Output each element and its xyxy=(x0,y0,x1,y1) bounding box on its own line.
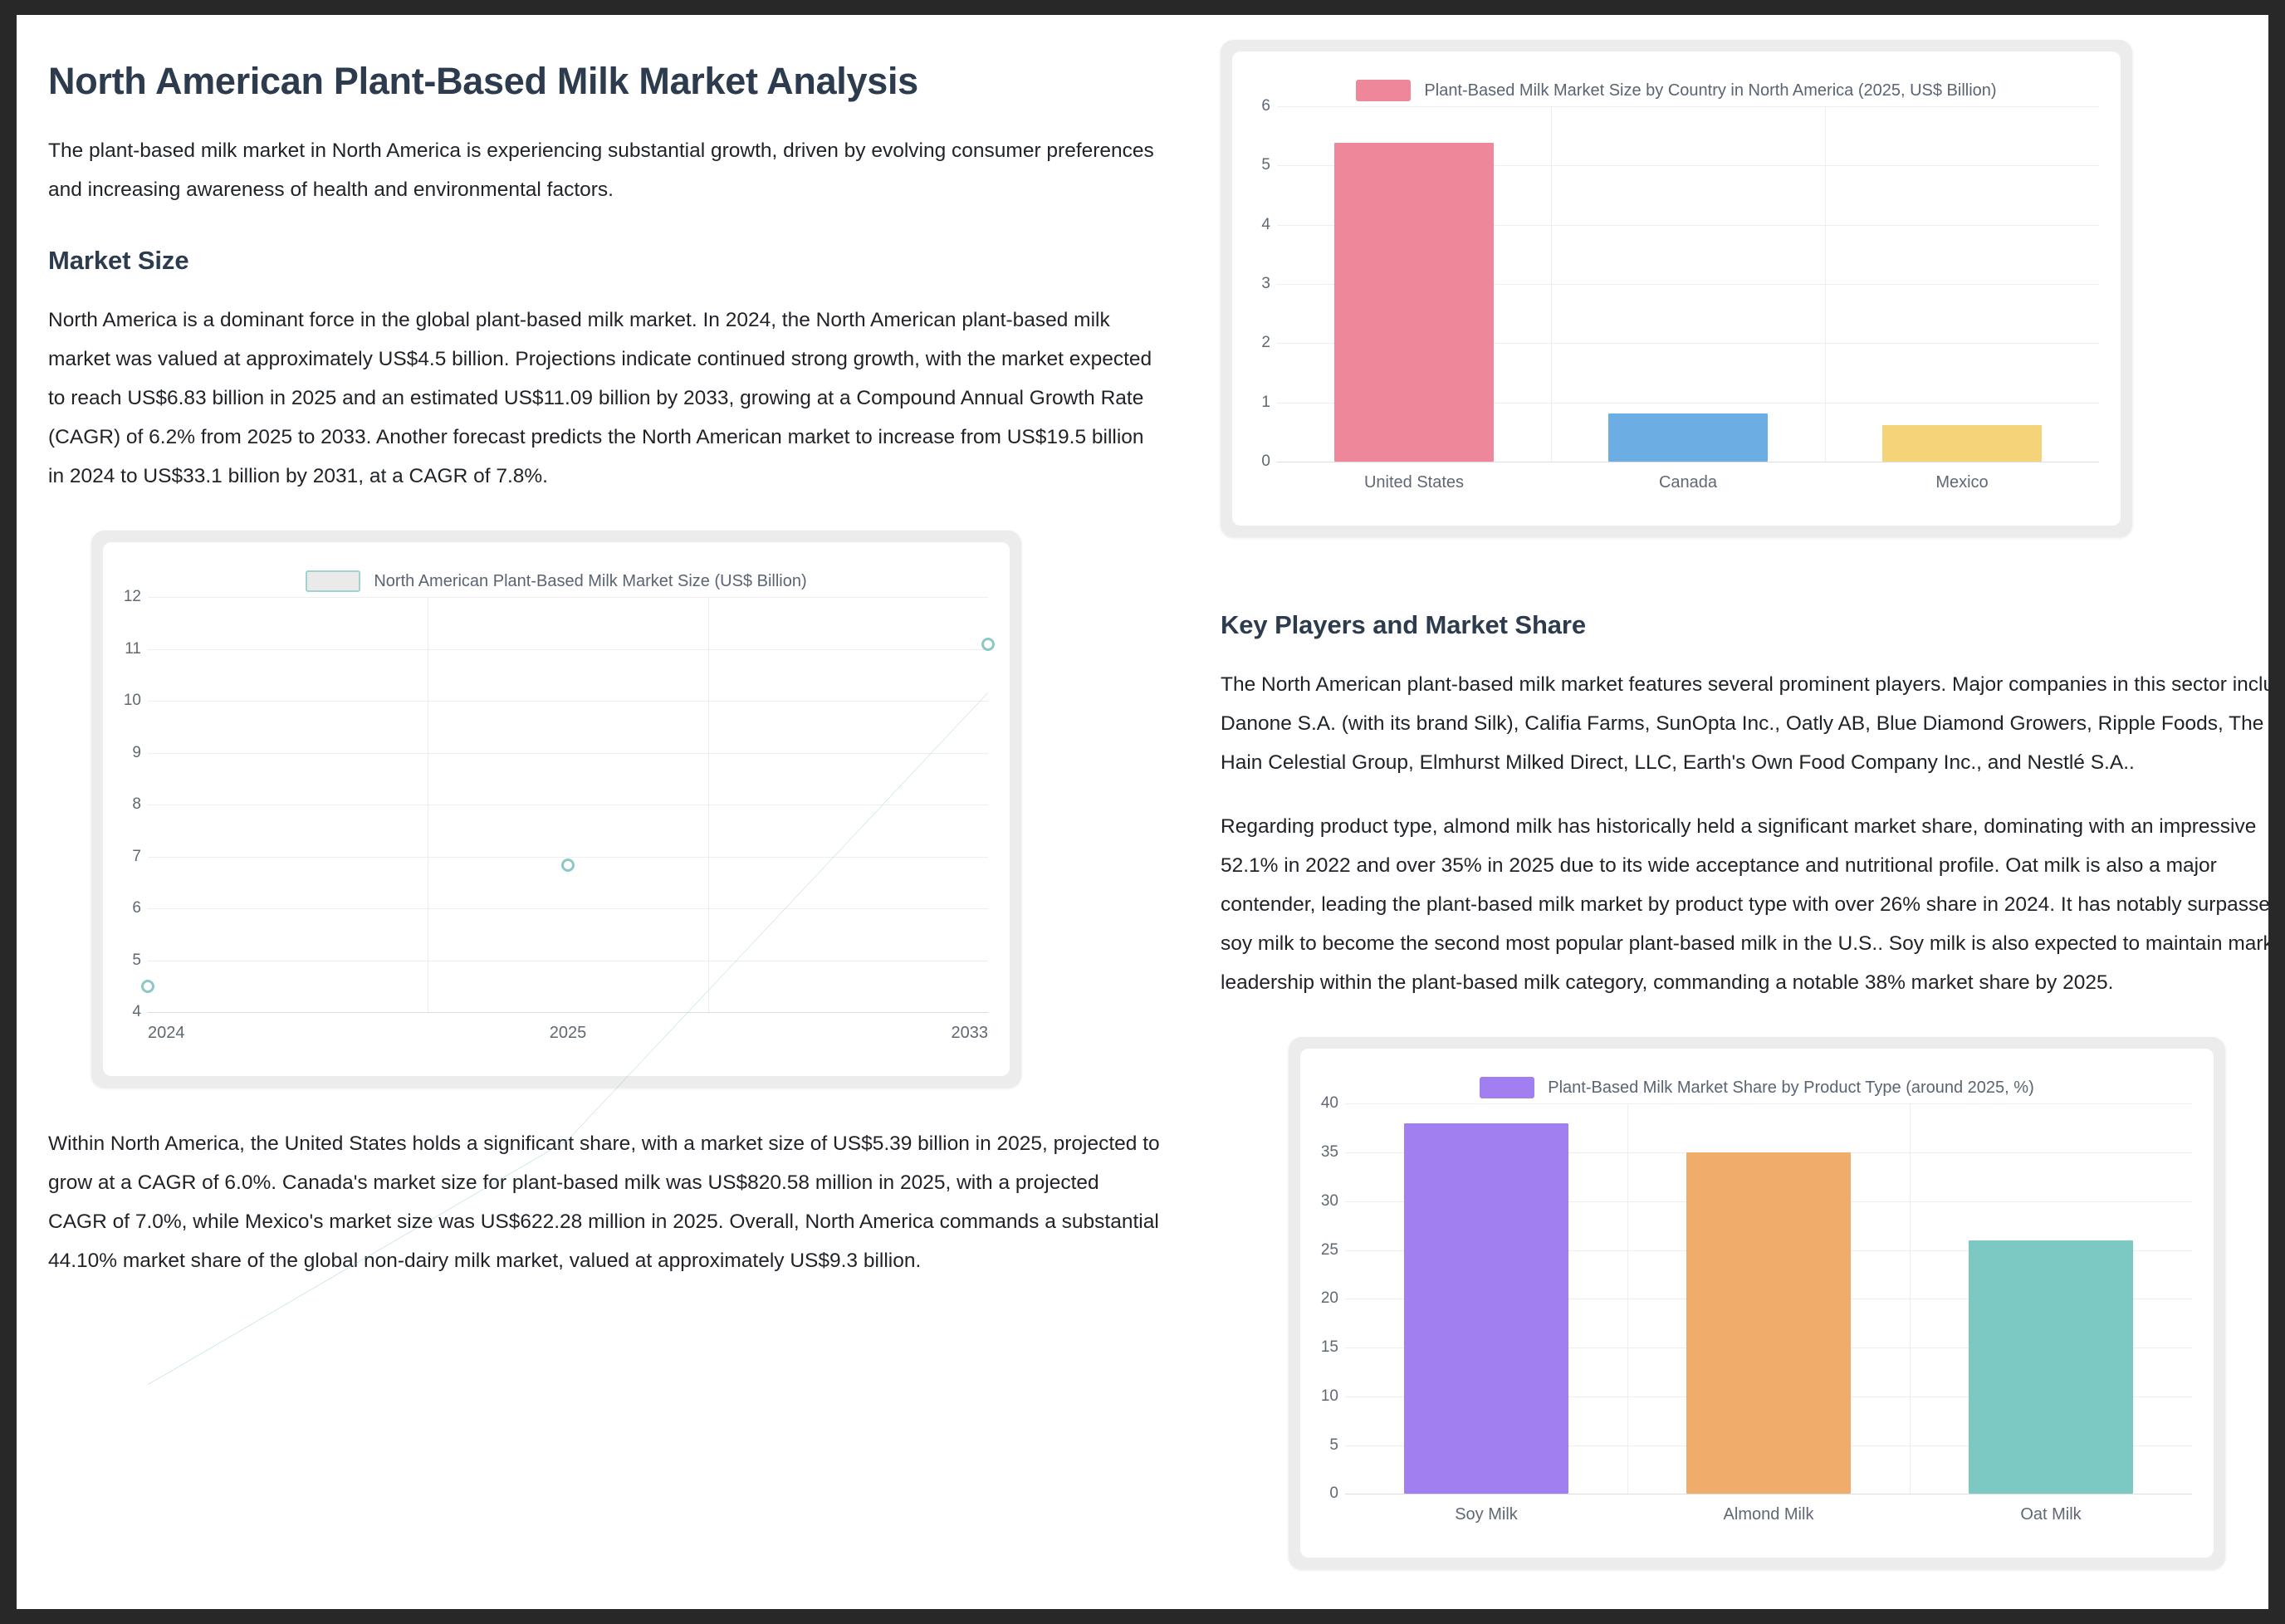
x-axis-tick: Canada xyxy=(1551,473,1825,492)
document-page: North American Plant-Based Milk Market A… xyxy=(17,15,2268,1609)
line-chart-x-axis: 202420252033 xyxy=(148,1012,988,1076)
y-axis-tick: 20 xyxy=(1321,1289,1338,1308)
y-axis-tick: 1 xyxy=(1261,394,1270,412)
y-axis-tick: 35 xyxy=(1321,1143,1338,1162)
y-axis-tick: 6 xyxy=(1261,97,1270,115)
country-bar-chart-card: Plant-Based Milk Market Size by Country … xyxy=(1221,40,2132,537)
y-axis-tick: 11 xyxy=(125,640,141,658)
bar-slot xyxy=(1551,106,1825,462)
y-axis-tick: 5 xyxy=(132,951,141,970)
legend-swatch-icon xyxy=(1480,1077,1534,1098)
bar[interactable] xyxy=(1882,425,2041,462)
bar-slot xyxy=(1277,106,1551,462)
key-players-paragraph-1: The North American plant-based milk mark… xyxy=(1221,665,2268,782)
legend-label: Plant-Based Milk Market Size by Country … xyxy=(1424,81,1996,100)
y-axis-tick: 6 xyxy=(132,899,141,917)
y-axis-tick: 7 xyxy=(132,848,141,866)
two-column-layout: North American Plant-Based Milk Market A… xyxy=(17,15,2268,1609)
y-axis-tick: 30 xyxy=(1321,1192,1338,1211)
y-axis-tick: 10 xyxy=(1321,1387,1338,1406)
market-size-paragraph-1: North America is a dominant force in the… xyxy=(48,301,1161,496)
y-axis-tick: 15 xyxy=(1321,1338,1338,1357)
market-size-line-chart-card: North American Plant-Based Milk Market S… xyxy=(91,531,1021,1088)
y-axis-tick: 25 xyxy=(1321,1241,1338,1260)
left-column: North American Plant-Based Milk Market A… xyxy=(48,40,1161,1609)
country-chart-x-axis: United StatesCanadaMexico xyxy=(1277,462,2099,526)
right-column: Plant-Based Milk Market Size by Country … xyxy=(1221,40,2268,1609)
x-axis-tick: Soy Milk xyxy=(1345,1505,1627,1524)
key-players-paragraph-2: Regarding product type, almond milk has … xyxy=(1221,807,2268,1002)
product-type-bar-chart-card: Plant-Based Milk Market Share by Product… xyxy=(1289,1037,2225,1569)
data-point-marker[interactable] xyxy=(561,858,575,872)
page-title: North American Plant-Based Milk Market A… xyxy=(48,56,970,106)
product-chart-plot-area: 0510152025303540 xyxy=(1300,1103,2214,1494)
line-chart-plot-area: 456789101112 xyxy=(103,597,1010,1012)
x-axis-tick: Mexico xyxy=(1825,473,2099,492)
legend-label: Plant-Based Milk Market Share by Product… xyxy=(1548,1079,2033,1098)
bar[interactable] xyxy=(1334,143,1493,462)
bar[interactable] xyxy=(1404,1123,1568,1494)
x-axis-tick: 2033 xyxy=(708,1024,988,1043)
legend-swatch-icon xyxy=(1356,80,1411,101)
y-axis-tick: 4 xyxy=(1261,216,1270,234)
x-axis-tick: Almond Milk xyxy=(1627,1505,1910,1524)
bar[interactable] xyxy=(1686,1152,1850,1494)
chart-inner: Plant-Based Milk Market Size by Country … xyxy=(1232,51,2121,526)
bar-slot xyxy=(1345,1103,1627,1494)
y-axis-tick: 12 xyxy=(124,588,141,606)
bar[interactable] xyxy=(1608,413,1767,462)
bar[interactable] xyxy=(1969,1240,2132,1494)
y-axis-tick: 9 xyxy=(132,744,141,762)
y-axis-tick: 3 xyxy=(1261,275,1270,293)
chart-legend: North American Plant-Based Milk Market S… xyxy=(103,542,1010,597)
chart-legend: Plant-Based Milk Market Size by Country … xyxy=(1232,51,2121,106)
y-axis-tick: 5 xyxy=(1329,1436,1338,1455)
product-chart-x-axis: Soy MilkAlmond MilkOat Milk xyxy=(1345,1494,2192,1558)
x-axis-tick: 2025 xyxy=(428,1024,707,1043)
y-axis-tick: 10 xyxy=(124,692,141,710)
section-heading-key-players: Key Players and Market Share xyxy=(1221,610,2268,640)
bars-layer xyxy=(1277,106,2099,462)
y-axis-tick-labels: 456789101112 xyxy=(103,597,148,1012)
y-axis-tick-labels: 0123456 xyxy=(1232,106,1277,462)
chart-legend: Plant-Based Milk Market Share by Product… xyxy=(1300,1049,2214,1103)
x-axis-tick: Oat Milk xyxy=(1910,1505,2192,1524)
y-axis-tick: 0 xyxy=(1261,452,1270,471)
y-axis-tick: 5 xyxy=(1261,156,1270,174)
data-point-marker[interactable] xyxy=(981,638,995,651)
y-axis-tick: 2 xyxy=(1261,334,1270,352)
legend-swatch-icon xyxy=(306,570,360,592)
bars-layer xyxy=(1345,1103,2192,1494)
x-axis-tick: United States xyxy=(1277,473,1551,492)
chart-inner: North American Plant-Based Milk Market S… xyxy=(103,542,1010,1076)
y-axis-tick: 8 xyxy=(132,795,141,814)
y-axis-tick: 0 xyxy=(1329,1485,1338,1503)
y-axis-tick: 4 xyxy=(132,1003,141,1021)
y-axis-tick: 40 xyxy=(1321,1094,1338,1113)
y-axis-tick-labels: 0510152025303540 xyxy=(1300,1103,1345,1494)
legend-label: North American Plant-Based Milk Market S… xyxy=(374,572,806,591)
section-heading-market-size: Market Size xyxy=(48,246,1161,276)
bar-slot xyxy=(1627,1103,1910,1494)
bar-slot xyxy=(1910,1103,2192,1494)
data-point-marker[interactable] xyxy=(141,980,154,993)
x-axis-tick: 2024 xyxy=(148,1024,428,1043)
intro-paragraph: The plant-based milk market in North Ame… xyxy=(48,131,1161,209)
country-chart-plot-area: 0123456 xyxy=(1232,106,2121,462)
bar-slot xyxy=(1825,106,2099,462)
chart-inner: Plant-Based Milk Market Share by Product… xyxy=(1300,1049,2214,1558)
